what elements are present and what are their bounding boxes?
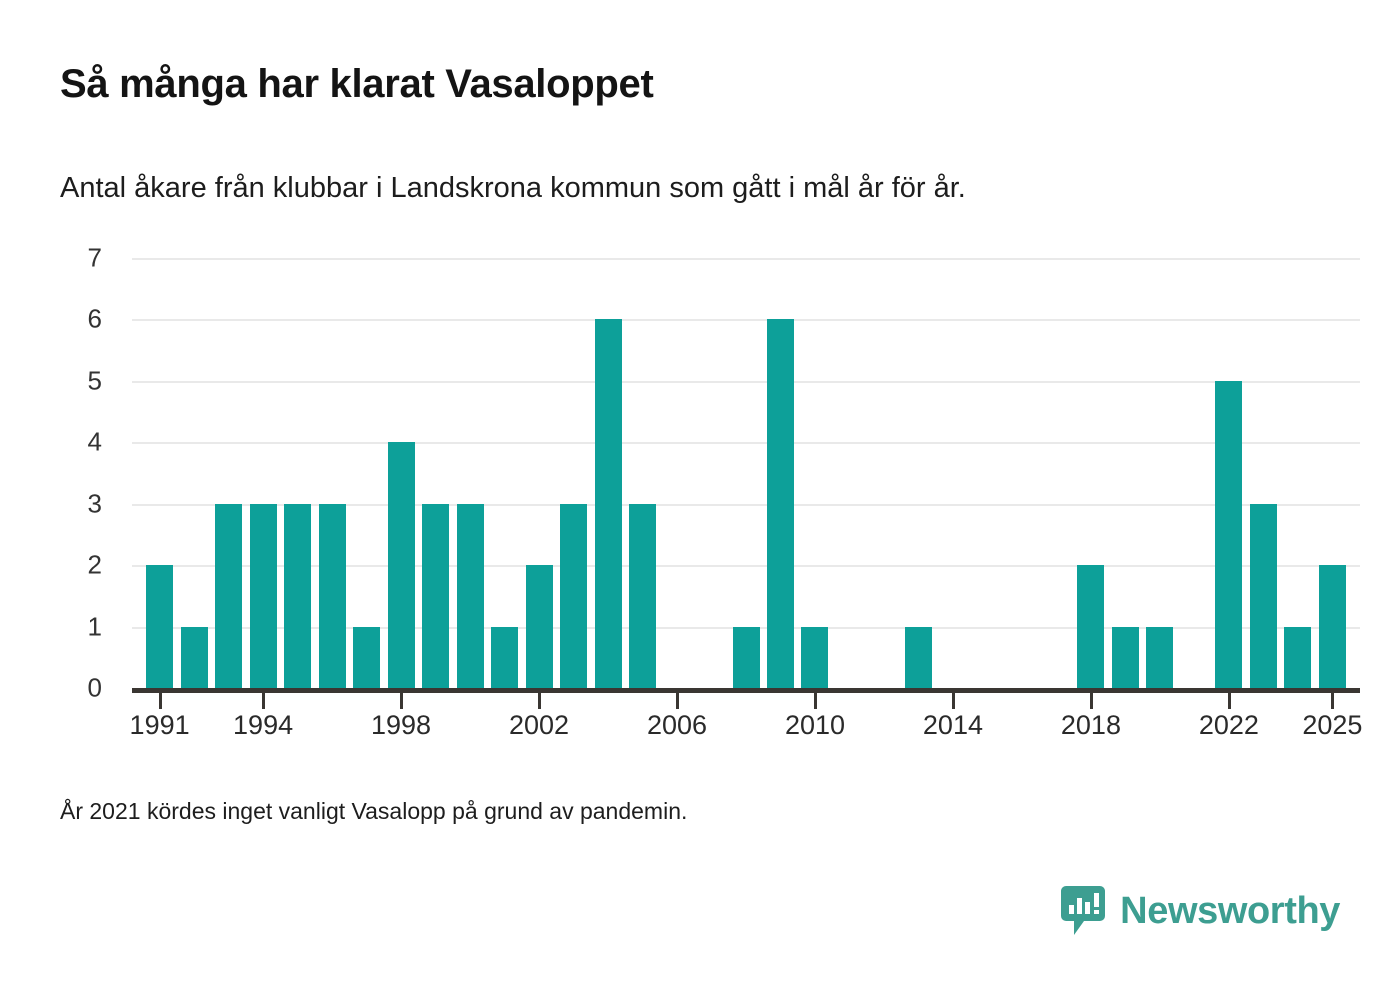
bar [388, 442, 415, 688]
bar [215, 504, 242, 688]
bar [1284, 627, 1311, 688]
bar-chart-speech-bubble-icon [1060, 885, 1106, 937]
bar-chart: 01234567 1991199419982002200620102014201… [60, 240, 1340, 700]
gridline [132, 319, 1360, 321]
y-axis-tick-label: 7 [62, 243, 102, 274]
x-axis-tick-label: 2006 [647, 710, 707, 741]
page-subtitle: Antal åkare från klubbar i Landskrona ko… [60, 172, 966, 205]
chart-page: Så många har klarat Vasaloppet Antal åka… [0, 0, 1400, 1000]
x-axis-tick-label: 2010 [785, 710, 845, 741]
y-axis-tick-label: 5 [62, 365, 102, 396]
page-title: Så många har klarat Vasaloppet [60, 62, 653, 107]
x-axis-tick [262, 693, 265, 709]
x-axis-tick-label: 2022 [1199, 710, 1259, 741]
bar [905, 627, 932, 688]
x-axis-tick [159, 693, 162, 709]
y-axis-tick-label: 3 [62, 488, 102, 519]
y-axis-tick-label: 2 [62, 550, 102, 581]
bar [595, 319, 622, 688]
bar [767, 319, 794, 688]
x-axis-tick-label: 2002 [509, 710, 569, 741]
bar [181, 627, 208, 688]
gridline [132, 504, 1360, 506]
x-axis-tick [676, 693, 679, 709]
x-axis-tick-label: 2018 [1061, 710, 1121, 741]
bar [353, 627, 380, 688]
bar [1112, 627, 1139, 688]
x-axis-tick-label: 2025 [1302, 710, 1362, 741]
bar [560, 504, 587, 688]
x-axis-tick [1228, 693, 1231, 709]
bar [146, 565, 173, 688]
plot-area [132, 258, 1360, 688]
y-axis-tick-label: 1 [62, 611, 102, 642]
x-axis-tick [538, 693, 541, 709]
bar [457, 504, 484, 688]
bar [1319, 565, 1346, 688]
newsworthy-logo: Newsworthy [1060, 885, 1340, 937]
x-axis-tick [1090, 693, 1093, 709]
x-axis-tick-label: 1991 [130, 710, 190, 741]
bar [1250, 504, 1277, 688]
bar [319, 504, 346, 688]
gridline [132, 565, 1360, 567]
bar [422, 504, 449, 688]
footnote: År 2021 kördes inget vanligt Vasalopp på… [60, 798, 687, 825]
x-axis-tick-label: 1998 [371, 710, 431, 741]
x-axis-tick-label: 2014 [923, 710, 983, 741]
x-axis-tick-label: 1994 [233, 710, 293, 741]
bar [491, 627, 518, 688]
bar [250, 504, 277, 688]
bar [629, 504, 656, 688]
bar [801, 627, 828, 688]
x-axis-line [132, 688, 1360, 693]
bar [1146, 627, 1173, 688]
bar [1215, 381, 1242, 688]
x-axis-tick [400, 693, 403, 709]
bar [1077, 565, 1104, 688]
gridline [132, 442, 1360, 444]
bar [733, 627, 760, 688]
y-axis-tick-label: 4 [62, 427, 102, 458]
gridline [132, 381, 1360, 383]
x-axis-tick [952, 693, 955, 709]
y-axis-labels: 01234567 [60, 258, 102, 688]
y-axis-tick-label: 0 [62, 673, 102, 704]
logo-wordmark: Newsworthy [1120, 890, 1340, 933]
x-axis-tick [814, 693, 817, 709]
gridline [132, 258, 1360, 260]
y-axis-tick-label: 6 [62, 304, 102, 335]
bar [526, 565, 553, 688]
bar [284, 504, 311, 688]
x-axis-tick [1331, 693, 1334, 709]
